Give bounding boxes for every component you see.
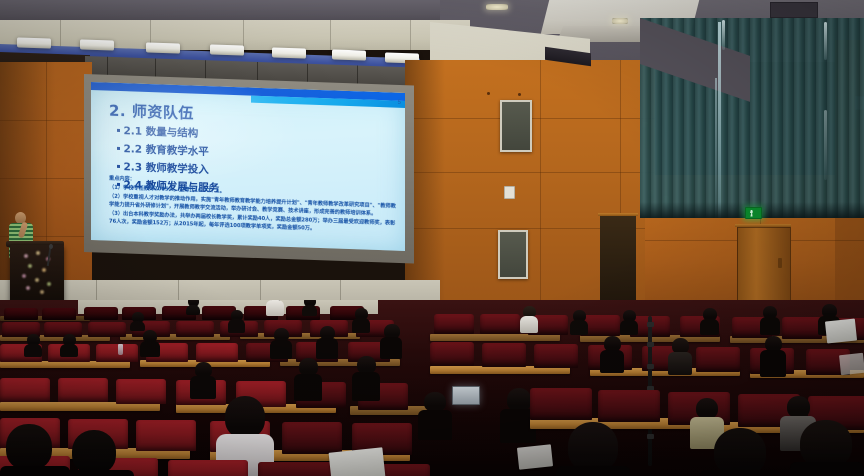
curtain-rod-cap <box>722 20 725 50</box>
seat <box>480 314 520 334</box>
audience-member <box>352 356 380 400</box>
seat <box>258 462 338 476</box>
desk-surface <box>0 361 130 368</box>
bullet-dot-icon <box>117 165 120 168</box>
audience-member <box>668 338 692 374</box>
seat <box>4 308 38 320</box>
audience-member <box>380 324 402 358</box>
wall-seam <box>330 20 331 50</box>
seat <box>0 378 50 402</box>
running-man-icon <box>750 210 753 217</box>
wall-switch[interactable] <box>504 186 515 199</box>
wall-anchor-hole <box>487 92 490 95</box>
audience-member <box>24 334 42 356</box>
audience-member <box>600 336 624 372</box>
audience-member-foreground <box>790 420 864 476</box>
seat <box>42 308 76 320</box>
seat <box>84 307 118 320</box>
slide-body-text: 重点内容： （1）学校专任教师2085人，生师比16.77：1。 （2）学校重视… <box>109 175 397 237</box>
handout-paper <box>517 444 553 469</box>
curtain-light-gap <box>824 110 827 180</box>
audience-member <box>130 312 145 330</box>
audience-member-foreground <box>64 430 134 476</box>
stage-light-fixture <box>332 49 366 60</box>
slide-bullet-label: 2.1 数量与结构 <box>124 123 199 141</box>
ceiling-downlight-icon <box>612 18 628 24</box>
window-curtain <box>640 18 864 218</box>
seat <box>88 322 126 337</box>
seat <box>434 314 474 334</box>
audience-member <box>760 336 786 376</box>
slide-title: 2. 师资队伍 <box>109 100 194 124</box>
seat <box>530 388 592 420</box>
wall-speaker-upper <box>500 100 532 152</box>
seat <box>598 390 660 422</box>
audience-seating-area <box>0 300 864 476</box>
slide-bullet-label: 2.2 教育教学水平 <box>124 141 209 159</box>
audience-member <box>60 334 78 356</box>
audience-member <box>316 326 338 358</box>
audience-member-foreground <box>700 428 780 476</box>
curtain-light-gap <box>718 22 721 218</box>
microphone-icon <box>49 244 53 249</box>
seat <box>176 321 214 337</box>
stage-light-fixture <box>17 37 51 48</box>
seat <box>136 420 196 451</box>
audience-member <box>700 308 719 334</box>
seat <box>282 422 342 454</box>
audience-member-foreground <box>556 422 630 476</box>
doorway-opening[interactable] <box>600 215 636 307</box>
door-frame <box>598 213 638 216</box>
slide-page-number: 5 <box>398 100 401 106</box>
audience-member <box>270 328 292 358</box>
audience-member <box>140 330 160 356</box>
wall-seam <box>405 172 655 173</box>
audience-member <box>520 306 538 332</box>
wall-seam <box>410 20 411 50</box>
open-laptop[interactable] <box>452 386 480 405</box>
audience-member <box>228 310 245 332</box>
seat <box>58 378 108 402</box>
bullet-dot-icon <box>117 129 120 132</box>
audience-member <box>620 310 638 334</box>
seat <box>696 347 740 372</box>
audience-member-foreground <box>0 418 70 476</box>
flower-arrangement <box>18 250 58 296</box>
audience-member <box>352 308 370 332</box>
seat <box>168 460 248 476</box>
audience-member <box>570 310 588 334</box>
audience-member <box>266 300 284 316</box>
audience-member <box>302 300 317 316</box>
wall-anchor-hole <box>518 93 521 96</box>
bullet-dot-icon <box>117 147 120 150</box>
wall-speaker-lower <box>498 230 528 279</box>
door-handle[interactable] <box>778 258 782 268</box>
audience-member <box>190 362 216 398</box>
water-bottle <box>118 344 123 355</box>
seat <box>534 344 578 368</box>
audience-member <box>186 300 200 314</box>
ceiling-vent <box>770 2 818 18</box>
emergency-exit-sign <box>745 207 762 219</box>
seat <box>482 343 526 367</box>
handout-paper <box>825 318 857 343</box>
audience-member <box>760 306 780 334</box>
handout-paper <box>329 447 386 476</box>
curtain-light-gap <box>715 78 717 218</box>
seat <box>96 344 138 362</box>
audience-member <box>418 392 452 438</box>
wall-seam <box>540 60 541 310</box>
curtain-rod-cap <box>824 22 827 60</box>
stage-light-fixture <box>272 47 306 58</box>
handout-paper <box>839 353 864 375</box>
projected-slide: 5 2. 师资队伍 2.1 数量与结构 2.2 教育教学水平 2.3 教师教学投… <box>91 82 405 251</box>
seat <box>430 342 474 366</box>
stage-light-fixture <box>80 39 114 50</box>
seat <box>782 317 822 339</box>
stage-light-fixture <box>146 42 180 53</box>
slide-bullet-label: 2.3 教师教学投入 <box>124 159 209 177</box>
desk-surface <box>430 334 560 341</box>
lecture-hall-photo: 5 2. 师资队伍 2.1 数量与结构 2.2 教育教学水平 2.3 教师教学投… <box>0 0 864 476</box>
exit-door-right[interactable] <box>737 227 791 307</box>
ceiling-downlight-icon <box>486 4 508 10</box>
seat <box>116 379 166 404</box>
seat <box>196 343 238 362</box>
audience-member <box>294 358 322 400</box>
stage-light-fixture <box>210 44 244 55</box>
